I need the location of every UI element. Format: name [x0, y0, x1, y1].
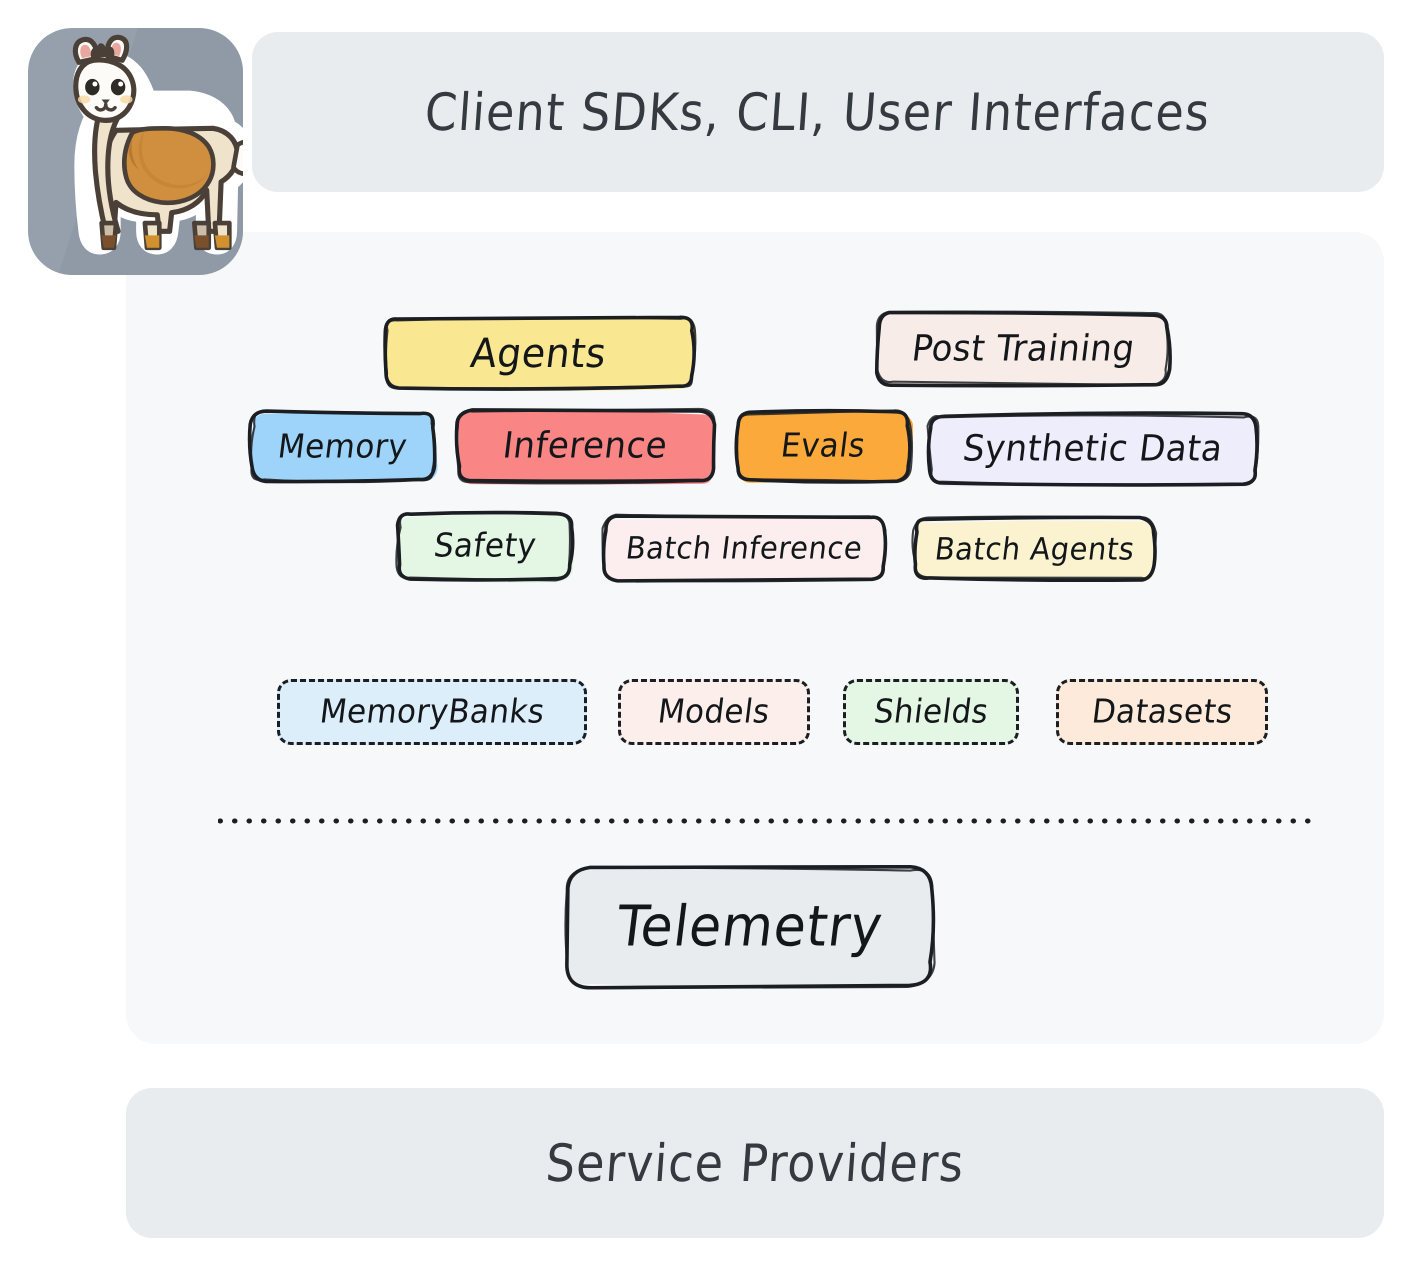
node-agents-label: Agents: [468, 330, 609, 377]
resource-datasets[interactable]: Datasets: [1056, 679, 1268, 745]
llama-logo-tile: [28, 28, 243, 275]
node-post-training-label: Post Training: [909, 328, 1137, 370]
node-batch-agents-label: Batch Agents: [933, 531, 1137, 567]
node-batch-agents[interactable]: Batch Agents: [915, 519, 1154, 579]
node-batch-inference[interactable]: Batch Inference: [605, 517, 884, 579]
service-providers-title: Service Providers: [544, 1133, 967, 1193]
node-post-training[interactable]: Post Training: [878, 314, 1168, 384]
node-synthetic-data[interactable]: Synthetic Data: [930, 415, 1256, 483]
dotted-divider: [218, 818, 1318, 824]
node-agents[interactable]: Agents: [385, 318, 693, 388]
client-layer-title: Client SDKs, CLI, User Interfaces: [423, 82, 1213, 142]
service-providers-bar: Service Providers: [126, 1088, 1384, 1238]
node-inference[interactable]: Inference: [458, 411, 713, 481]
telemetry-box[interactable]: Telemetry: [568, 868, 932, 986]
diagram-canvas: Client SDKs, CLI, User Interfaces: [0, 0, 1410, 1268]
node-synthetic-data-label: Synthetic Data: [961, 428, 1226, 470]
telemetry-label: Telemetry: [613, 895, 887, 960]
resource-models-label: Models: [656, 693, 772, 731]
resource-shields[interactable]: Shields: [843, 679, 1019, 745]
node-safety-label: Safety: [432, 527, 539, 565]
node-batch-inference-label: Batch Inference: [624, 530, 865, 566]
node-evals-label: Evals: [779, 427, 868, 465]
llama-logo-icon: [28, 28, 243, 275]
node-evals[interactable]: Evals: [737, 412, 909, 480]
resource-shields-label: Shields: [872, 693, 991, 731]
node-safety[interactable]: Safety: [399, 513, 571, 579]
resource-memorybanks[interactable]: MemoryBanks: [277, 679, 587, 745]
resource-models[interactable]: Models: [618, 679, 810, 745]
resource-datasets-label: Datasets: [1089, 693, 1234, 731]
resource-memorybanks-label: MemoryBanks: [317, 693, 546, 731]
node-inference-label: Inference: [501, 425, 670, 467]
client-layer-bar: Client SDKs, CLI, User Interfaces: [252, 32, 1384, 192]
node-memory-label: Memory: [276, 428, 410, 466]
node-memory[interactable]: Memory: [252, 413, 434, 481]
